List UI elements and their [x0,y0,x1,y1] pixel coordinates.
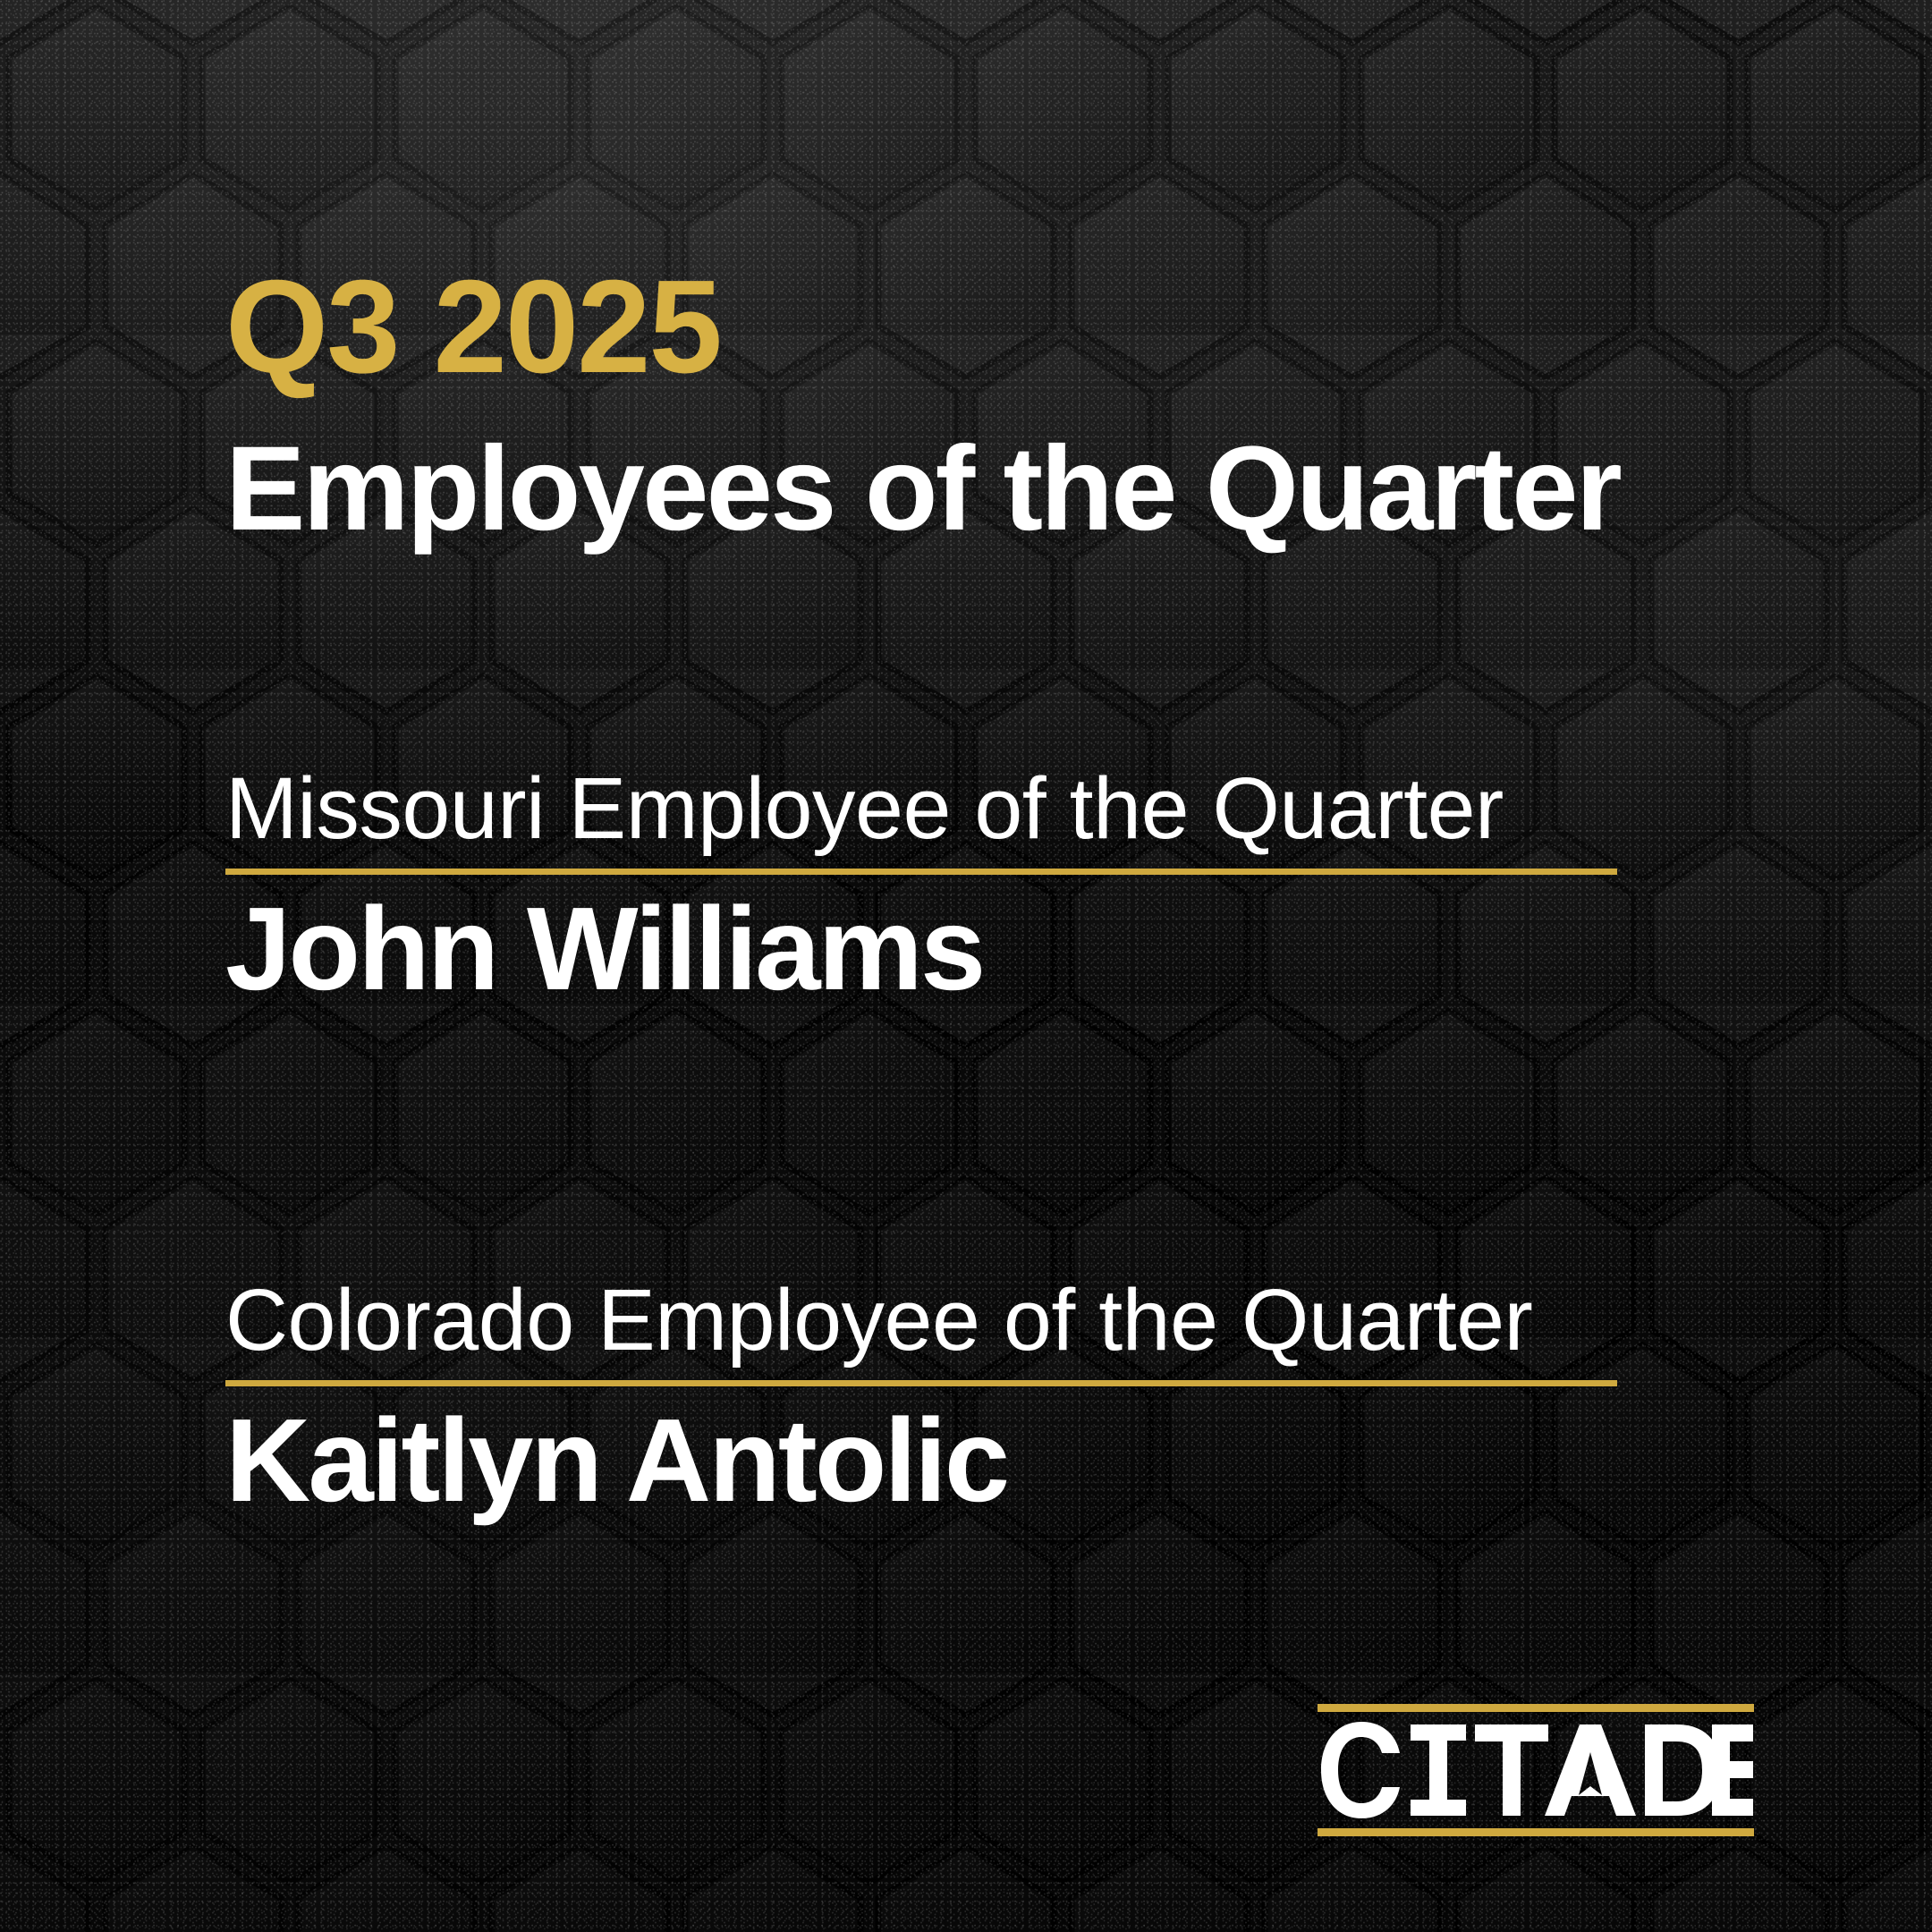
award-block-missouri: Missouri Employee of the Quarter John Wi… [225,762,1617,1011]
award-category-label: Missouri Employee of the Quarter [225,762,1617,856]
award-category-label: Colorado Employee of the Quarter [225,1274,1617,1368]
poster-canvas: Q3 2025 Employees of the Quarter Missour… [0,0,1932,1932]
award-recipient-name: Kaitlyn Antolic [225,1399,1617,1523]
poster-content: Q3 2025 Employees of the Quarter Missour… [0,0,1932,1932]
page-title: Employees of the Quarter [225,429,1620,549]
brand-rule-bottom [1318,1828,1754,1836]
brand-rule-top [1318,1704,1754,1712]
award-recipient-name: John Williams [225,887,1617,1012]
award-divider-rule [225,869,1617,875]
citadel-logo [1318,1704,1754,1836]
award-divider-rule [225,1380,1617,1386]
citadel-wordmark-icon [1318,1722,1754,1818]
award-block-colorado: Colorado Employee of the Quarter Kaitlyn… [225,1274,1617,1522]
quarter-label: Q3 2025 [225,261,721,394]
